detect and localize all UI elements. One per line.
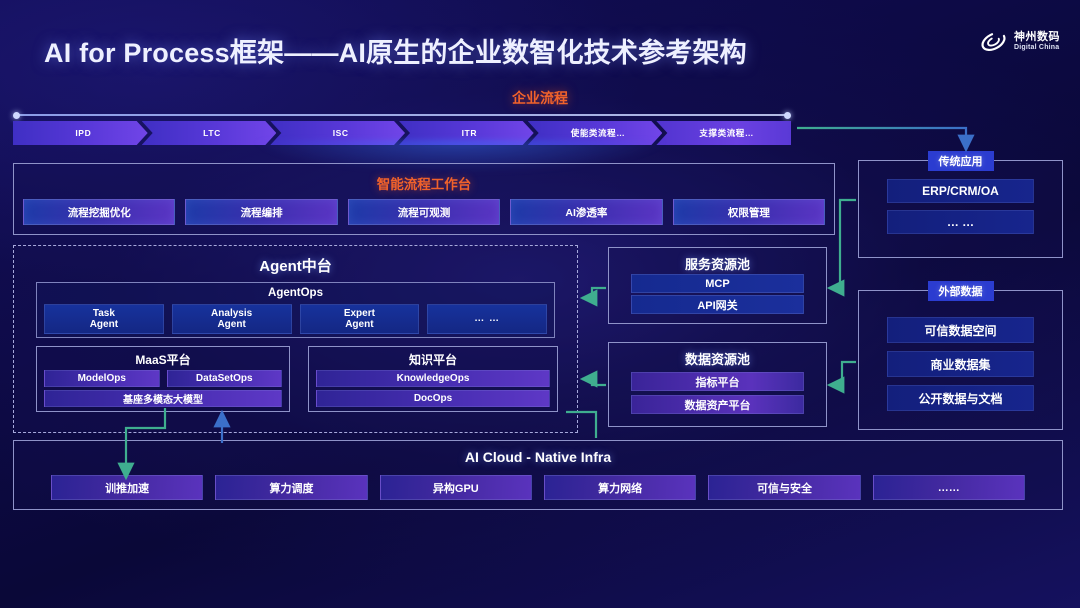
knowledge-docops[interactable]: DocOps (316, 390, 550, 407)
data-pool-title: 数据资源池 (609, 349, 826, 368)
data-pool-asset-platform[interactable]: 数据资产平台 (631, 395, 804, 414)
connector-external-data-to-data-pool (829, 362, 856, 385)
external-data-trusted-space[interactable]: 可信数据空间 (887, 317, 1034, 343)
maas-modelops[interactable]: ModelOps (44, 370, 160, 387)
process-strip-label: 企业流程 (0, 88, 1080, 108)
process-track-dot-left (13, 112, 20, 119)
maas-title: MaaS平台 (37, 351, 289, 368)
panel-service-resource-pool: 服务资源池 MCP API网关 (608, 247, 827, 324)
legacy-app-list: ERP/CRM/OA … … (887, 179, 1034, 234)
external-data-tag: 外部数据 (928, 281, 994, 301)
agent-more[interactable]: … … (427, 304, 547, 334)
workbench-item-process-mining[interactable]: 流程挖掘优化 (23, 199, 175, 225)
panel-agent-hub: Agent中台 AgentOps Task Agent Analysis Age… (13, 245, 578, 433)
brand-logo: 神州数码 Digital China (980, 28, 1060, 55)
panel-maas: MaaS平台 ModelOps DataSetOps 基座多模态大模型 (36, 346, 290, 412)
data-pool-row-metrics: 指标平台 (631, 372, 804, 391)
logo-wordmark: 神州数码 Digital China (1014, 32, 1060, 51)
service-pool-mcp[interactable]: MCP (631, 274, 804, 293)
infra-title: AI Cloud - Native Infra (14, 449, 1062, 465)
workbench-title: 智能流程工作台 (14, 173, 834, 193)
infra-item-training-inference-acceleration[interactable]: 训推加速 (51, 475, 203, 500)
data-pool-metrics-platform[interactable]: 指标平台 (631, 372, 804, 391)
agent-task[interactable]: Task Agent (44, 304, 164, 334)
digital-china-swoosh-icon (980, 28, 1007, 55)
external-data-commercial-dataset[interactable]: 商业数据集 (887, 351, 1034, 377)
connector-process-to-legacy-app (797, 128, 966, 150)
infra-item-heterogeneous-gpu[interactable]: 异构GPU (380, 475, 532, 500)
workbench-item-observability[interactable]: 流程可观测 (348, 199, 500, 225)
infra-item-trust-security[interactable]: 可信与安全 (708, 475, 860, 500)
agentops-agent-list: Task Agent Analysis Agent Expert Agent …… (44, 304, 547, 334)
workbench-item-list: 流程挖掘优化 流程编排 流程可观测 AI渗透率 权限管理 (23, 199, 825, 225)
external-data-public-docs[interactable]: 公开数据与文档 (887, 385, 1034, 411)
panel-knowledge: 知识平台 KnowledgeOps DocOps (308, 346, 558, 412)
infra-item-list: 训推加速 算力调度 异构GPU 算力网络 可信与安全 …… (51, 475, 1025, 500)
maas-foundation-model[interactable]: 基座多模态大模型 (44, 390, 282, 407)
panel-data-resource-pool: 数据资源池 指标平台 数据资产平台 (608, 342, 827, 427)
page-title: AI for Process框架——AI原生的企业数智化技术参考架构 (44, 31, 747, 70)
agent-hub-title: Agent中台 (14, 255, 577, 276)
logo-name-en: Digital China (1014, 44, 1060, 51)
service-pool-api-gateway[interactable]: API网关 (631, 295, 804, 314)
service-pool-row-mcp: MCP (631, 274, 804, 293)
workbench-item-orchestration[interactable]: 流程编排 (185, 199, 337, 225)
panel-ai-cloud-native-infra: AI Cloud - Native Infra 训推加速 算力调度 异构GPU … (13, 440, 1063, 510)
process-track-dot-right (784, 112, 791, 119)
agent-expert[interactable]: Expert Agent (300, 304, 420, 334)
maas-row-ops: ModelOps DataSetOps (44, 370, 282, 387)
maas-datasetops[interactable]: DataSetOps (167, 370, 283, 387)
infra-item-more[interactable]: …… (873, 475, 1025, 500)
service-pool-row-api: API网关 (631, 295, 804, 314)
process-track (13, 112, 791, 119)
knowledge-knowledgeops[interactable]: KnowledgeOps (316, 370, 550, 387)
knowledge-row-knowledgeops: KnowledgeOps (316, 370, 550, 387)
legacy-app-erp-crm-oa[interactable]: ERP/CRM/OA (887, 179, 1034, 203)
knowledge-title: 知识平台 (309, 351, 557, 368)
panel-intelligent-process-workbench: 智能流程工作台 流程挖掘优化 流程编排 流程可观测 AI渗透率 权限管理 (13, 163, 835, 235)
infra-item-compute-scheduling[interactable]: 算力调度 (215, 475, 367, 500)
infra-item-compute-network[interactable]: 算力网络 (544, 475, 696, 500)
maas-row-foundation: 基座多模态大模型 (44, 390, 282, 407)
legacy-app-tag: 传统应用 (928, 151, 994, 171)
process-track-line (17, 114, 787, 116)
logo-name-cn: 神州数码 (1014, 32, 1060, 44)
workbench-item-ai-penetration[interactable]: AI渗透率 (510, 199, 662, 225)
panel-external-data: 外部数据 可信数据空间 商业数据集 公开数据与文档 (858, 290, 1063, 430)
connector-service-pool-to-agent-hub (582, 288, 606, 298)
agent-analysis[interactable]: Analysis Agent (172, 304, 292, 334)
legacy-app-more[interactable]: … … (887, 210, 1034, 234)
service-pool-title: 服务资源池 (609, 254, 826, 273)
panel-agentops: AgentOps Task Agent Analysis Agent Exper… (36, 282, 555, 338)
workbench-item-permissions[interactable]: 权限管理 (673, 199, 825, 225)
process-stage-ipd[interactable]: IPD (13, 121, 148, 145)
knowledge-row-docops: DocOps (316, 390, 550, 407)
external-data-list: 可信数据空间 商业数据集 公开数据与文档 (887, 317, 1034, 411)
connector-data-pool-to-agent-hub (582, 379, 606, 385)
slide-canvas: AI for Process框架——AI原生的企业数智化技术参考架构 神州数码 … (0, 0, 1080, 608)
data-pool-row-assets: 数据资产平台 (631, 395, 804, 414)
panel-legacy-applications: 传统应用 ERP/CRM/OA … … (858, 160, 1063, 258)
process-stage-supporting[interactable]: 支撑类流程… (656, 121, 791, 145)
agentops-title: AgentOps (37, 287, 554, 299)
